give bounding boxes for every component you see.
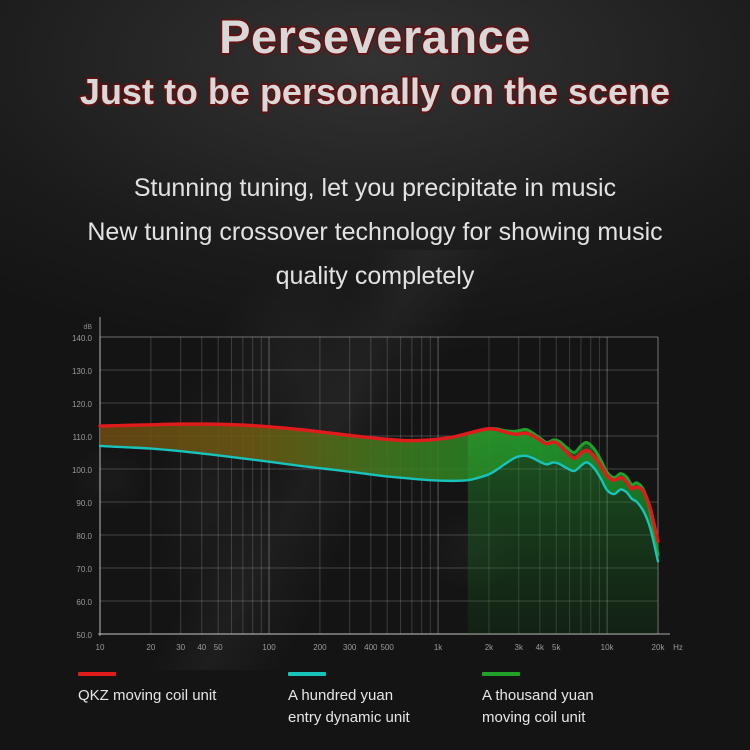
svg-text:200: 200 (313, 643, 327, 652)
svg-text:70.0: 70.0 (76, 565, 92, 574)
svg-text:1k: 1k (434, 643, 443, 652)
svg-text:20: 20 (146, 643, 155, 652)
svg-text:400: 400 (364, 643, 378, 652)
legend-label-line-2: moving coil unit (482, 707, 594, 729)
svg-text:20k: 20k (652, 643, 666, 652)
svg-text:90.0: 90.0 (76, 499, 92, 508)
chart-fill-band (100, 424, 658, 634)
svg-text:130.0: 130.0 (72, 367, 93, 376)
svg-text:80.0: 80.0 (76, 532, 92, 541)
hero-text-block: Perseverance Just to be personally on th… (0, 0, 750, 114)
svg-text:100.0: 100.0 (72, 466, 93, 475)
svg-text:10: 10 (96, 643, 105, 652)
page-subtitle: Just to be personally on the scene (0, 66, 750, 114)
svg-text:4k: 4k (536, 643, 545, 652)
legend-item-hundred-yuan-entry-dynamic-unit[interactable]: A hundred yuan entry dynamic unit (288, 672, 410, 729)
svg-text:50: 50 (214, 643, 223, 652)
svg-text:50.0: 50.0 (76, 631, 92, 640)
svg-text:30: 30 (176, 643, 185, 652)
svg-text:100: 100 (262, 643, 276, 652)
tagline-line-1: Stunning tuning, let you precipitate in … (0, 166, 750, 210)
legend-label-line-1: A thousand yuan (482, 685, 594, 707)
legend-label-line-2: entry dynamic unit (288, 707, 410, 729)
svg-text:120.0: 120.0 (72, 400, 93, 409)
tagline-group: Stunning tuning, let you precipitate in … (0, 166, 750, 298)
svg-text:140.0: 140.0 (72, 334, 93, 343)
svg-text:3k: 3k (515, 643, 524, 652)
frequency-response-chart: 140.0130.0120.0110.0100.090.080.070.060.… (0, 305, 750, 665)
tagline-line-2: New tuning crossover technology for show… (0, 210, 750, 254)
legend-item-qkz-moving-coil-unit[interactable]: QKZ moving coil unit (78, 672, 216, 707)
tagline-line-3: quality completely (0, 254, 750, 298)
page-title: Perseverance (0, 0, 750, 66)
legend-swatch-red (78, 672, 116, 676)
svg-text:Hz: Hz (673, 643, 683, 652)
svg-text:500: 500 (381, 643, 395, 652)
svg-text:2k: 2k (485, 643, 494, 652)
legend-swatch-teal (288, 672, 326, 676)
legend-swatch-green (482, 672, 520, 676)
legend-label-line-1: QKZ moving coil unit (78, 685, 216, 707)
frequency-response-plot: 140.0130.0120.0110.0100.090.080.070.060.… (0, 305, 750, 665)
svg-text:60.0: 60.0 (76, 598, 92, 607)
legend-item-thousand-yuan-moving-coil-unit[interactable]: A thousand yuan moving coil unit (482, 672, 594, 729)
svg-text:110.0: 110.0 (73, 433, 93, 442)
svg-text:10k: 10k (601, 643, 615, 652)
svg-text:300: 300 (343, 643, 357, 652)
svg-text:dB: dB (83, 324, 92, 331)
svg-text:40: 40 (197, 643, 206, 652)
page-background: Perseverance Just to be personally on th… (0, 0, 750, 750)
chart-legend: QKZ moving coil unit A hundred yuan entr… (0, 672, 750, 742)
svg-text:5k: 5k (552, 643, 561, 652)
legend-label-line-1: A hundred yuan (288, 685, 410, 707)
